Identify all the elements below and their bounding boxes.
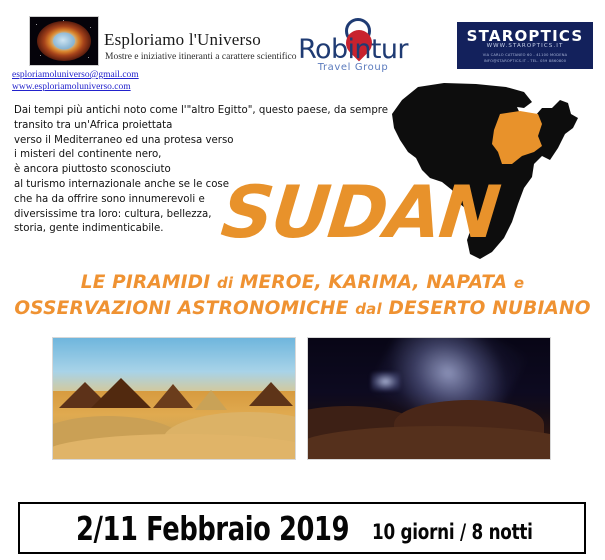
staroptics-logo: STAROPTICS WWW.STAROPTICS.IT VIA CARLO C… [457,22,593,69]
robintur-subtitle: Travel Group [288,62,418,73]
subtitle-part: OSSERVAZIONI ASTRONOMICHE [14,298,348,319]
page-title: SUDAN [218,176,502,248]
trip-duration: 10 giorni / 8 notti [372,520,533,544]
intro-line: verso il Mediterraneo ed una protesa ver… [14,134,404,149]
subtitle-part: LE PIRAMIDI [81,272,211,293]
subtitle-part: di [217,274,233,292]
website-link[interactable]: www.esploriamoluniverso.com [12,81,139,93]
subtitle-part: dal [355,300,382,318]
meroe-pyramids-photo [52,337,296,460]
staroptics-address: VIA CARLO CATTANEO 60 - 41100 MODENA INF… [457,52,593,64]
subtitle-line-2: OSSERVAZIONI ASTRONOMICHE dal DESERTO NU… [0,296,605,322]
brand-tagline: Mostre e iniziative itineranti a caratte… [105,52,297,62]
intro-line: transito tra un'Africa proiettata [14,119,404,134]
subtitle-block: LE PIRAMIDI di MEROE, KARIMA, NAPATA e O… [0,270,605,322]
staroptics-address-line2: INFO@STAROPTICS.IT - TEL. 059 8860800 [457,58,593,64]
robintur-logo: Robintur Travel Group [288,16,418,78]
robintur-wordmark: Robintur [288,34,418,65]
email-link[interactable]: esploriamoluniverso@gmail.com [12,69,139,81]
milky-way-photo [307,337,551,460]
nebula-core [53,33,75,50]
subtitle-line-1: LE PIRAMIDI di MEROE, KARIMA, NAPATA e [0,270,605,296]
intro-line: i misteri del continente nero, [14,148,404,163]
subtitle-part: MEROE, KARIMA, NAPATA [240,272,507,293]
contact-links: esploriamoluniverso@gmail.com www.esplor… [12,69,139,93]
staroptics-website: WWW.STAROPTICS.IT [457,43,593,49]
trip-dates: 2/11 Febbraio 2019 [76,510,349,548]
subtitle-part: e [514,274,524,292]
date-box: 2/11 Febbraio 2019 10 giorni / 8 notti [18,502,586,554]
subtitle-part: DESERTO NUBIANO [388,298,590,319]
brand-title: Esploriamo l'Universo [104,30,261,50]
flyer-page: Esploriamo l'Universo Mostre e iniziativ… [0,0,605,560]
intro-line: Dai tempi più antichi noto come l'"altro… [14,104,404,119]
helix-nebula-photo [29,16,99,66]
